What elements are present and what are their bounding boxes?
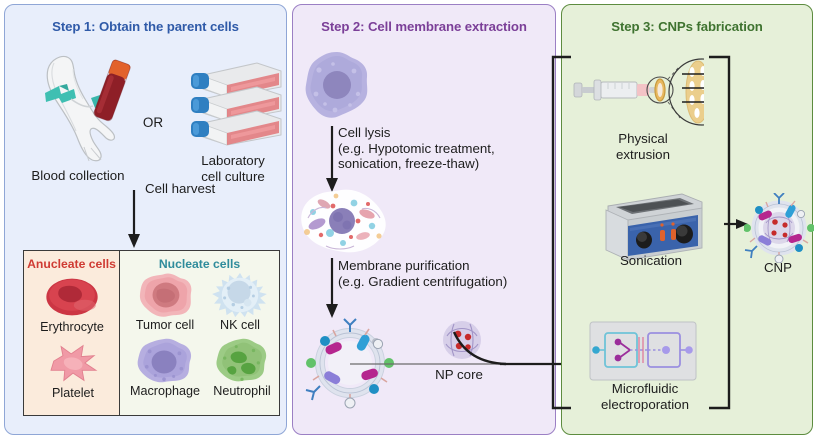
membrane-purification-label: Membrane purification (e.g. Gradient cen… [338,258,556,289]
nk-cell-icon [204,271,276,319]
cell-erythrocyte-label: Erythrocyte [40,320,104,334]
cell-platelet-label: Platelet [52,386,94,400]
blood-collection-label: Blood collection [13,168,143,184]
panel-step-1-title: Step 1: Obtain the parent cells [5,19,286,34]
microfluidic-electroporation-icon [588,320,698,382]
cell-macrophage: Macrophage [124,337,206,399]
cell-tumor-label: Tumor cell [136,318,194,332]
cnp-label: CNP [744,260,812,276]
methods-bracket-left [549,55,573,410]
nucleate-cells-heading: Nucleate cells [120,257,279,271]
macrophage-icon [124,337,206,385]
erythrocyte-icon [36,275,108,319]
platelet-icon [38,341,108,385]
parent-cell-icon [300,50,374,124]
nucleate-cells-group: Nucleate cells Tumor cell [120,251,279,415]
or-label: OR [131,115,175,131]
panel-step-1: Step 1: Obtain the parent cells [4,4,287,435]
parent-cell-types-box: Anucleate cells Erythrocyte P [23,250,280,416]
sonication-label: Sonication [598,253,704,269]
anucleate-cells-heading: Anucleate cells [24,257,119,271]
physical-extrusion-label: Physical extrusion [590,131,696,162]
neutrophil-icon [206,337,278,385]
cell-harvest-label: Cell harvest [145,181,255,197]
panel-step-2-title: Step 2: Cell membrane extraction [293,19,555,34]
cell-tumor: Tumor cell [126,271,204,333]
cell-neutrophil: Neutrophil [206,337,278,399]
cell-harvest-arrow [123,190,145,250]
physical-extrusion-icon [572,56,704,134]
cell-erythrocyte: Erythrocyte [36,275,108,337]
anucleate-cells-group: Anucleate cells Erythrocyte P [24,251,120,415]
tumor-cell-icon [126,271,204,319]
cell-neutrophil-label: Neutrophil [213,384,270,398]
cell-nk-label: NK cell [220,318,260,332]
cell-macrophage-label: Macrophage [130,384,200,398]
laboratory-cell-culture-illustration [181,57,285,155]
cell-nk: NK cell [204,271,276,333]
figure-canvas: Step 1: Obtain the parent cells [0,0,817,439]
lysed-cell-illustration [296,188,394,254]
blood-collection-illustration [21,53,143,165]
panel-step-3-title: Step 3: CNPs fabrication [562,19,812,34]
microfluidic-electroporation-label: Microfluidic electroporation [585,381,705,412]
cell-platelet: Platelet [38,341,108,403]
laboratory-cell-culture-label: Laboratory cell culture [177,153,289,184]
cnp-icon [744,193,814,263]
cell-lysis-label: Cell lysis (e.g. Hypotomic treatment, so… [338,125,553,172]
